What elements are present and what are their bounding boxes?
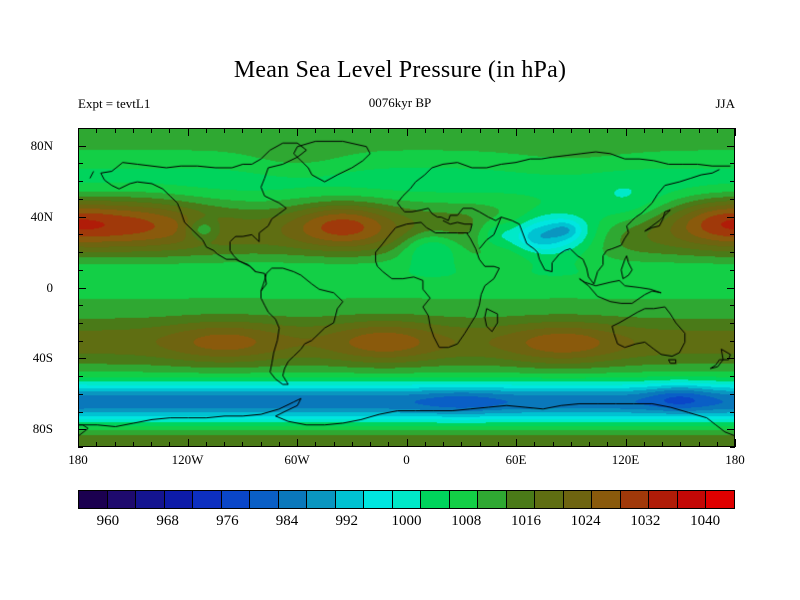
axis-tick xyxy=(498,442,499,447)
colorbar-tick-label: 1024 xyxy=(571,513,601,530)
axis-tick xyxy=(727,358,735,359)
map-plot-area xyxy=(78,128,735,447)
axis-tick xyxy=(498,128,499,133)
axis-tick xyxy=(727,429,735,430)
axis-tick xyxy=(78,376,83,377)
axis-tick xyxy=(96,442,97,447)
x-axis-tick-label: 180 xyxy=(725,452,745,468)
y-axis-tick-label: 40N xyxy=(31,209,53,225)
x-axis-tick-label: 120E xyxy=(612,452,639,468)
axis-tick xyxy=(407,128,408,136)
axis-tick xyxy=(133,128,134,133)
axis-tick xyxy=(388,442,389,447)
axis-tick xyxy=(626,128,627,136)
axis-tick xyxy=(352,128,353,133)
colorbar-cell xyxy=(649,491,678,508)
axis-tick xyxy=(717,128,718,133)
axis-tick xyxy=(461,442,462,447)
axis-tick xyxy=(553,442,554,447)
axis-tick xyxy=(315,442,316,447)
axis-tick xyxy=(279,442,280,447)
axis-tick xyxy=(644,442,645,447)
axis-tick xyxy=(224,128,225,133)
axis-tick xyxy=(730,305,735,306)
axis-tick xyxy=(534,128,535,133)
axis-tick xyxy=(680,128,681,133)
axis-tick xyxy=(516,128,517,136)
axis-tick xyxy=(735,439,736,447)
colorbar-cell xyxy=(79,491,108,508)
axis-tick xyxy=(730,394,735,395)
x-axis-tick-label: 180 xyxy=(68,452,88,468)
axis-tick xyxy=(78,439,79,447)
axis-tick xyxy=(516,439,517,447)
axis-tick xyxy=(78,163,83,164)
axis-tick xyxy=(151,128,152,133)
colorbar-cell xyxy=(564,491,593,508)
axis-tick xyxy=(662,442,663,447)
colorbar-cell xyxy=(336,491,365,508)
axis-tick xyxy=(96,128,97,133)
axis-tick xyxy=(730,234,735,235)
axis-tick xyxy=(169,128,170,133)
axis-tick xyxy=(727,217,735,218)
colorbar-tick-label: 1016 xyxy=(511,513,541,530)
colorbar xyxy=(78,490,735,509)
colorbar-cell xyxy=(535,491,564,508)
colorbar-cell xyxy=(621,491,650,508)
x-axis-tick-label: 60W xyxy=(284,452,309,468)
season-label: JJA xyxy=(0,96,735,112)
figure-root: Mean Sea Level Pressure (in hPa) 0076kyr… xyxy=(0,0,800,600)
axis-tick xyxy=(730,376,735,377)
colorbar-cell xyxy=(393,491,422,508)
axis-tick xyxy=(78,128,79,136)
axis-tick xyxy=(730,270,735,271)
axis-tick xyxy=(443,442,444,447)
colorbar-cell xyxy=(279,491,308,508)
colorbar-tick-label: 1008 xyxy=(451,513,481,530)
axis-tick xyxy=(443,128,444,133)
axis-tick xyxy=(626,439,627,447)
colorbar-cell xyxy=(592,491,621,508)
axis-tick xyxy=(261,128,262,133)
axis-tick xyxy=(589,128,590,133)
axis-tick xyxy=(589,442,590,447)
axis-tick xyxy=(407,439,408,447)
axis-tick xyxy=(370,128,371,133)
axis-tick xyxy=(730,323,735,324)
colorbar-cell xyxy=(193,491,222,508)
axis-tick xyxy=(644,128,645,133)
axis-tick xyxy=(334,442,335,447)
axis-tick xyxy=(730,412,735,413)
axis-tick xyxy=(352,442,353,447)
colorbar-cell xyxy=(136,491,165,508)
axis-tick xyxy=(730,163,735,164)
axis-tick xyxy=(78,128,83,129)
axis-tick xyxy=(680,442,681,447)
x-axis-tick-label: 60E xyxy=(506,452,527,468)
axis-tick xyxy=(297,439,298,447)
x-axis-tick-label: 0 xyxy=(403,452,410,468)
axis-tick xyxy=(425,128,426,133)
axis-tick xyxy=(370,442,371,447)
axis-tick xyxy=(699,442,700,447)
axis-tick xyxy=(78,358,86,359)
axis-tick xyxy=(78,394,83,395)
colorbar-cell xyxy=(478,491,507,508)
axis-tick xyxy=(730,128,735,129)
colorbar-cell xyxy=(307,491,336,508)
axis-tick xyxy=(730,181,735,182)
axis-tick xyxy=(571,128,572,133)
axis-tick xyxy=(425,442,426,447)
axis-tick xyxy=(297,128,298,136)
axis-tick xyxy=(699,128,700,133)
axis-tick xyxy=(169,442,170,447)
axis-tick xyxy=(334,128,335,133)
y-axis-tick-label: 80N xyxy=(31,138,53,154)
colorbar-cell xyxy=(108,491,137,508)
x-axis-tick-label: 120W xyxy=(172,452,204,468)
axis-tick xyxy=(730,341,735,342)
axis-tick xyxy=(662,128,663,133)
colorbar-cell xyxy=(222,491,251,508)
axis-tick xyxy=(730,447,735,448)
axis-tick xyxy=(78,447,83,448)
y-axis-tick-label: 80S xyxy=(33,421,53,437)
axis-tick xyxy=(206,128,207,133)
axis-tick xyxy=(78,305,83,306)
axis-tick xyxy=(607,442,608,447)
axis-tick xyxy=(730,199,735,200)
axis-tick xyxy=(78,217,86,218)
axis-tick xyxy=(78,252,83,253)
colorbar-cell xyxy=(165,491,194,508)
axis-tick xyxy=(188,439,189,447)
axis-tick xyxy=(78,270,83,271)
colorbar-tick-label: 976 xyxy=(216,513,239,530)
axis-tick xyxy=(717,442,718,447)
colorbar-cell xyxy=(421,491,450,508)
axis-tick xyxy=(78,288,86,289)
axis-tick xyxy=(279,128,280,133)
axis-tick xyxy=(315,128,316,133)
axis-tick xyxy=(461,128,462,133)
axis-tick xyxy=(78,146,86,147)
axis-tick xyxy=(78,323,83,324)
colorbar-cell xyxy=(507,491,536,508)
axis-tick xyxy=(78,412,83,413)
axis-tick xyxy=(571,442,572,447)
axis-tick xyxy=(534,442,535,447)
colorbar-tick-label: 1032 xyxy=(630,513,660,530)
axis-tick xyxy=(151,442,152,447)
axis-tick xyxy=(206,442,207,447)
axis-tick xyxy=(115,442,116,447)
axis-tick xyxy=(553,128,554,133)
colorbar-tick-label: 960 xyxy=(97,513,120,530)
colorbar-tick-label: 984 xyxy=(276,513,299,530)
axis-tick xyxy=(388,128,389,133)
axis-tick xyxy=(607,128,608,133)
axis-tick xyxy=(735,128,736,136)
axis-tick xyxy=(78,199,83,200)
colorbar-tick-label: 1040 xyxy=(690,513,720,530)
colorbar-tick-label: 1000 xyxy=(392,513,422,530)
colorbar-cell xyxy=(450,491,479,508)
axis-tick xyxy=(727,288,735,289)
colorbar-cell xyxy=(364,491,393,508)
axis-tick xyxy=(242,128,243,133)
axis-tick xyxy=(727,146,735,147)
page-title: Mean Sea Level Pressure (in hPa) xyxy=(0,57,800,84)
axis-tick xyxy=(78,429,86,430)
axis-tick xyxy=(133,442,134,447)
axis-tick xyxy=(78,234,83,235)
axis-tick xyxy=(480,128,481,133)
axis-tick xyxy=(78,181,83,182)
axis-tick xyxy=(115,128,116,133)
y-axis-tick-label: 0 xyxy=(47,280,54,296)
pressure-field-canvas xyxy=(79,129,734,446)
colorbar-tick-label: 992 xyxy=(336,513,359,530)
axis-tick xyxy=(188,128,189,136)
axis-tick xyxy=(261,442,262,447)
colorbar-cell xyxy=(706,491,734,508)
axis-tick xyxy=(224,442,225,447)
colorbar-tick-label: 968 xyxy=(156,513,179,530)
axis-tick xyxy=(78,341,83,342)
axis-tick xyxy=(480,442,481,447)
axis-tick xyxy=(730,252,735,253)
axis-tick xyxy=(242,442,243,447)
colorbar-cell xyxy=(678,491,707,508)
colorbar-cell xyxy=(250,491,279,508)
y-axis-tick-label: 40S xyxy=(33,350,53,366)
